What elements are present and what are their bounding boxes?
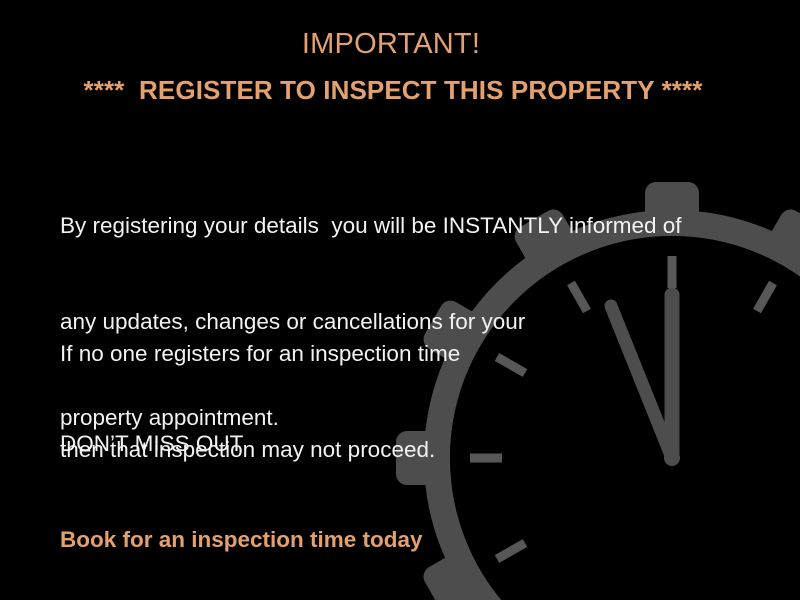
page-title: IMPORTANT! [0, 29, 782, 61]
page-subtitle: **** REGISTER TO INSPECT THIS PROPERTY *… [0, 76, 786, 106]
paragraph-line: By registering your details you will be … [60, 210, 682, 242]
cta-dont-miss-out: DON’T MISS OUT [60, 428, 423, 460]
cta-book-inspection: Book for an inspection time today [60, 524, 423, 556]
paragraph-call-to-action: DON’T MISS OUT Book for an inspection ti… [60, 364, 423, 600]
promo-slide: IMPORTANT! **** REGISTER TO INSPECT THIS… [0, 0, 800, 600]
text-layer: IMPORTANT! **** REGISTER TO INSPECT THIS… [0, 0, 800, 600]
